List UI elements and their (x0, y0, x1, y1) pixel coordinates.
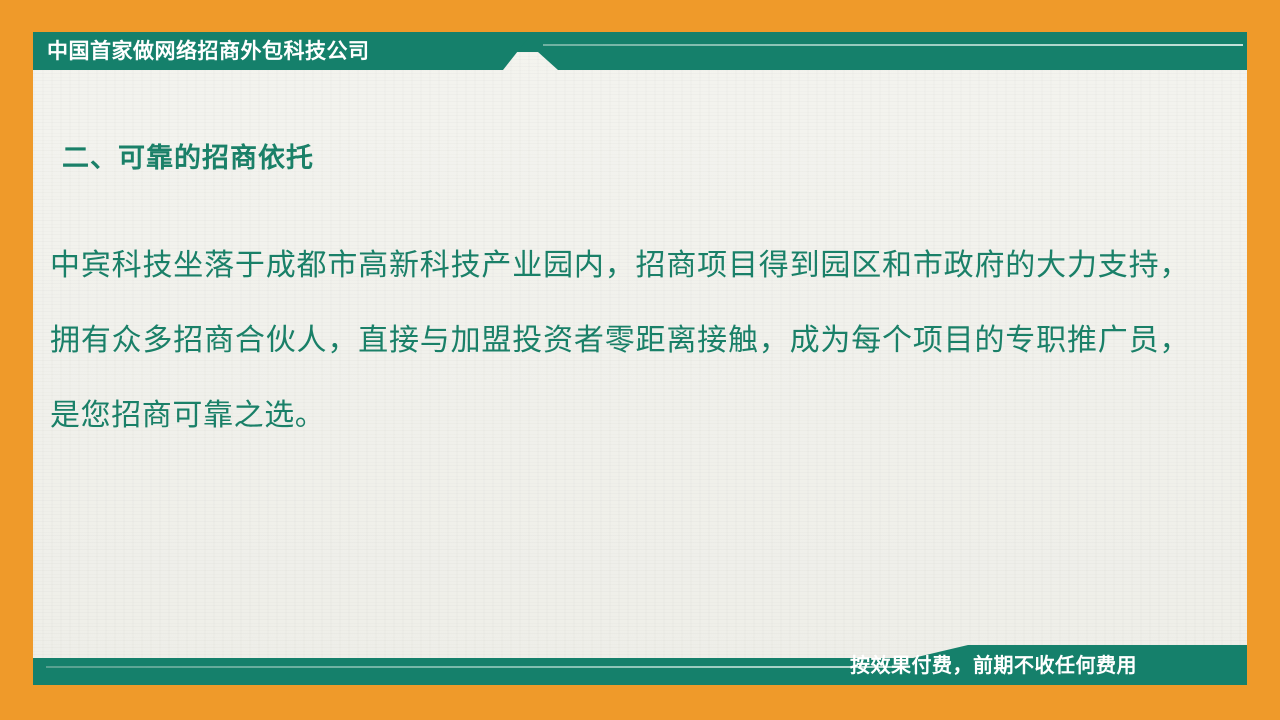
body-paragraph: 中宾科技坐落于成都市高新科技产业园内，招商项目得到园区和市政府的大力支持，拥有众… (50, 228, 1190, 453)
slide-root: 中国首家做网络招商外包科技公司 二、可靠的招商依托 中宾科技坐落于成都市高新科技… (0, 0, 1280, 720)
footer-tagline: 按效果付费，前期不收任何费用 (850, 651, 1240, 681)
frame-border-left (0, 0, 33, 720)
frame-border-top (0, 0, 1280, 32)
section-heading: 二、可靠的招商依托 (62, 136, 314, 175)
frame-border-bottom (0, 685, 1280, 720)
header-title: 中国首家做网络招商外包科技公司 (47, 36, 517, 68)
header-hairline-divider (543, 44, 1243, 46)
frame-border-right (1247, 0, 1280, 720)
footer-hairline-divider (46, 666, 906, 668)
